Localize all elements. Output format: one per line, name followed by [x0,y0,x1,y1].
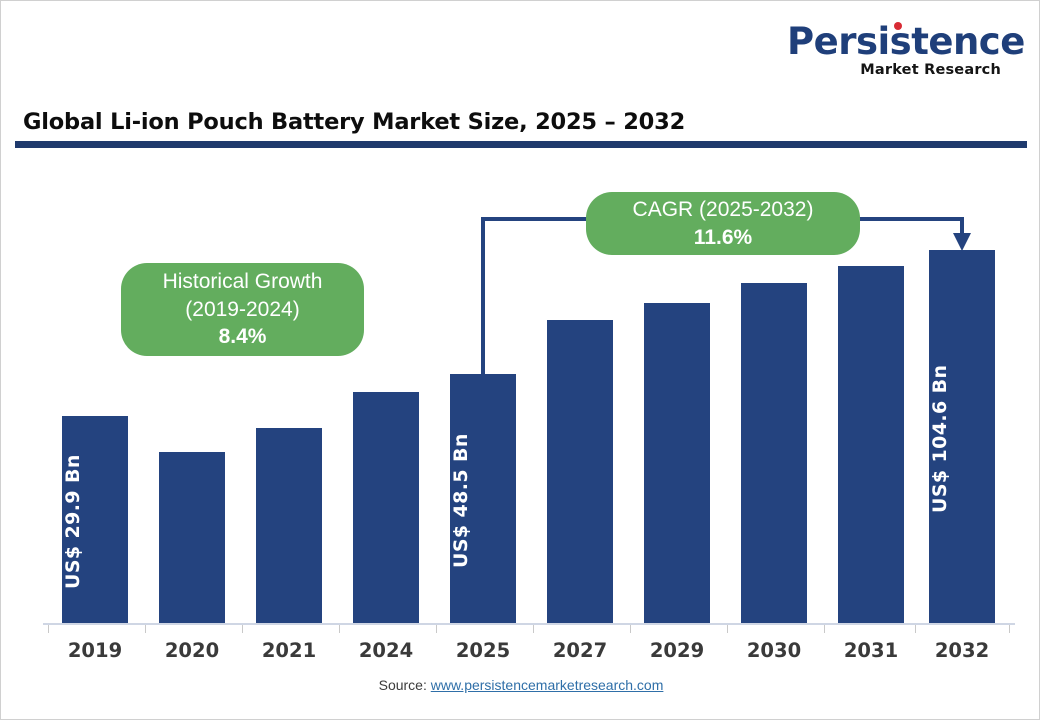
x-axis-line [43,623,1015,625]
x-axis-label-2032: 2032 [917,639,1007,662]
x-axis-tick-2029 [630,624,631,633]
source-link[interactable]: www.persistencemarketresearch.com [431,677,664,693]
x-axis-tick-2032 [915,624,916,633]
x-axis-label-2029: 2029 [632,639,722,662]
cagr-line1: CAGR (2025-2032) [633,196,814,224]
source-note: Source: www.persistencemarketresearch.co… [1,677,1040,693]
bar-2021 [256,428,322,623]
historical-growth-callout: Historical Growth (2019-2024) 8.4% [121,263,364,356]
source-prefix: Source: [379,677,431,693]
x-axis-label-2027: 2027 [535,639,625,662]
bar-value-label-2025: US$ 48.5 Bn [450,388,516,613]
historical-growth-line2: (2019-2024) [185,296,299,324]
bar-value-label-2019: US$ 29.9 Bn [62,430,128,613]
bar-2031 [838,266,904,623]
cagr-callout: CAGR (2025-2032) 11.6% [586,192,860,255]
x-axis-label-2024: 2024 [341,639,431,662]
historical-growth-line1: Historical Growth [163,268,323,296]
bar-2024 [353,392,419,623]
x-axis-label-2031: 2031 [826,639,916,662]
bar-2027 [547,320,613,623]
x-axis-tick-2025 [436,624,437,633]
x-axis-tick-2024 [339,624,340,633]
x-axis-label-2030: 2030 [729,639,819,662]
x-axis-label-2020: 2020 [147,639,237,662]
x-axis-label-2019: 2019 [50,639,140,662]
x-axis-tick-2019 [48,624,49,633]
chart-page: Persistence Market Research Global Li-io… [0,0,1040,720]
bar-2029 [644,303,710,623]
bar-value-label-2032: US$ 104.6 Bn [929,264,995,613]
x-axis-tick-2031 [824,624,825,633]
x-axis-label-2021: 2021 [244,639,334,662]
bar-2030 [741,283,807,623]
x-axis-tick-2020 [145,624,146,633]
x-axis-tick-2021 [242,624,243,633]
cagr-value: 11.6% [694,224,752,252]
bar-2020 [159,452,225,623]
historical-growth-value: 8.4% [219,323,267,351]
x-axis-tick-2027 [533,624,534,633]
x-axis-tick-2030 [727,624,728,633]
x-axis-tick-end [1009,624,1010,633]
bar-chart: US$ 29.9 Bn2019202020212024US$ 48.5 Bn20… [1,1,1040,720]
x-axis-label-2025: 2025 [438,639,528,662]
